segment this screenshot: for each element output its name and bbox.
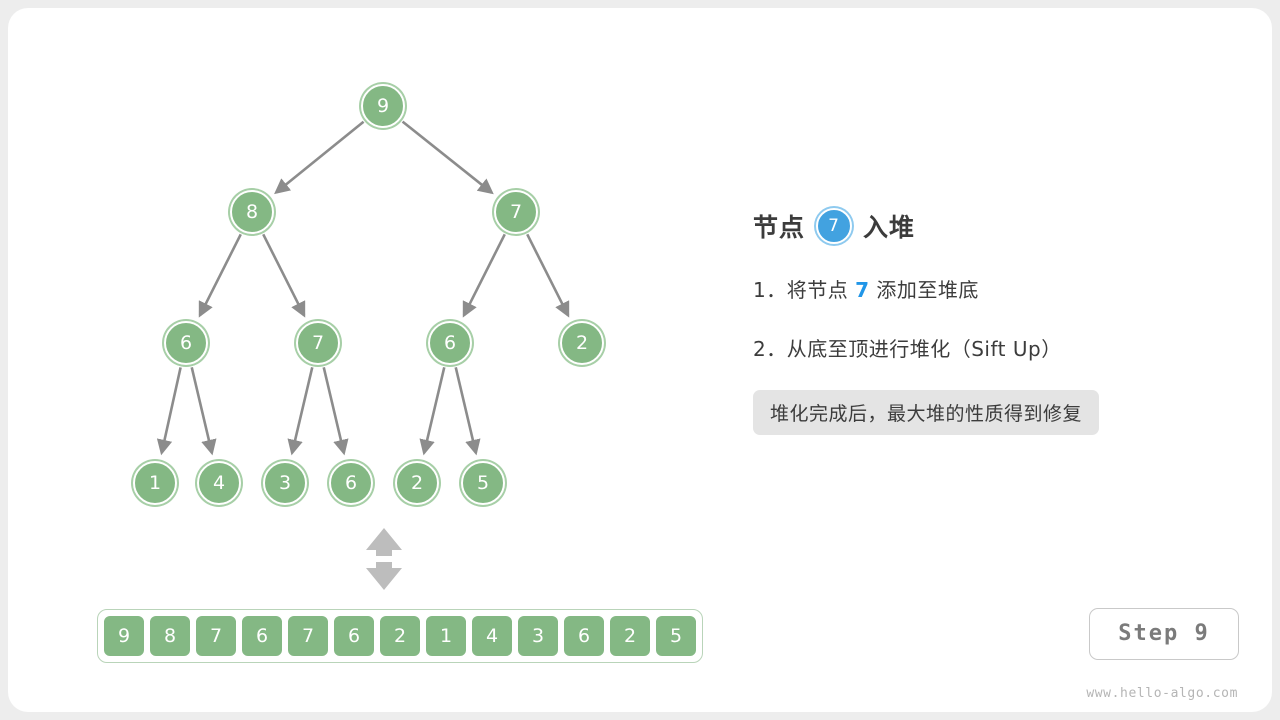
tree-edge — [192, 367, 212, 452]
heap-array: 9876762143625 — [97, 609, 703, 663]
step-1-value: 7 — [855, 278, 869, 302]
tree-node: 6 — [428, 321, 472, 365]
tree-node: 2 — [395, 461, 439, 505]
array-cell: 3 — [516, 614, 560, 658]
tree-edge — [464, 234, 505, 315]
tree-node: 2 — [560, 321, 604, 365]
step-counter-badge: Step 9 — [1089, 608, 1239, 660]
status-badge: 7 — [816, 208, 852, 244]
tree-edge — [324, 367, 344, 452]
tree-node: 1 — [133, 461, 177, 505]
array-cell: 2 — [608, 614, 652, 658]
tree-edge — [456, 367, 476, 452]
array-cell: 6 — [562, 614, 606, 658]
page-title: 节点 7 入堆 — [753, 208, 1233, 244]
swap-vertical-icon — [362, 526, 406, 592]
step-1-text: 1．将节点 7 添加至堆底 — [753, 274, 1233, 303]
array-cell: 7 — [286, 614, 330, 658]
tree-edge — [276, 122, 363, 193]
array-cell: 6 — [332, 614, 376, 658]
step-2-text: 2．从底至顶进行堆化（Sift Up） — [753, 333, 1233, 362]
tree-edge — [424, 367, 444, 452]
tree-node: 7 — [494, 190, 538, 234]
tree-node: 9 — [361, 84, 405, 128]
tree-node: 7 — [296, 321, 340, 365]
array-cell: 1 — [424, 614, 468, 658]
tree-node: 3 — [263, 461, 307, 505]
step-1-prefix: 1．将节点 — [753, 278, 848, 302]
tree-node: 4 — [197, 461, 241, 505]
tree-node: 6 — [164, 321, 208, 365]
array-cell: 8 — [148, 614, 192, 658]
array-cell: 5 — [654, 614, 698, 658]
panel-title-prefix: 节点 — [753, 208, 805, 244]
result-note: 堆化完成后，最大堆的性质得到修复 — [753, 390, 1099, 435]
tree-node: 8 — [230, 190, 274, 234]
tree-edge — [263, 234, 304, 315]
tree-node: 6 — [329, 461, 373, 505]
binary-tree-diagram: 9876762143625 — [8, 8, 728, 588]
tree-edge — [403, 122, 492, 193]
array-cell: 9 — [102, 614, 146, 658]
array-cell: 6 — [240, 614, 284, 658]
array-cell: 2 — [378, 614, 422, 658]
panel-title-suffix: 入堆 — [863, 208, 915, 244]
watermark-url: www.hello-algo.com — [1078, 686, 1238, 701]
explanation-panel: 节点 7 入堆 1．将节点 7 添加至堆底 2．从底至顶进行堆化（Sift Up… — [753, 208, 1233, 435]
array-cell: 7 — [194, 614, 238, 658]
tree-edge — [200, 234, 241, 315]
array-cell: 4 — [470, 614, 514, 658]
diagram-card: 9876762143625 9876762143625 节点 7 入堆 1．将节… — [8, 8, 1272, 712]
tree-node: 5 — [461, 461, 505, 505]
step-1-suffix: 添加至堆底 — [876, 278, 979, 302]
tree-edge — [162, 367, 181, 452]
tree-edge — [292, 367, 312, 452]
tree-edge — [527, 234, 568, 315]
